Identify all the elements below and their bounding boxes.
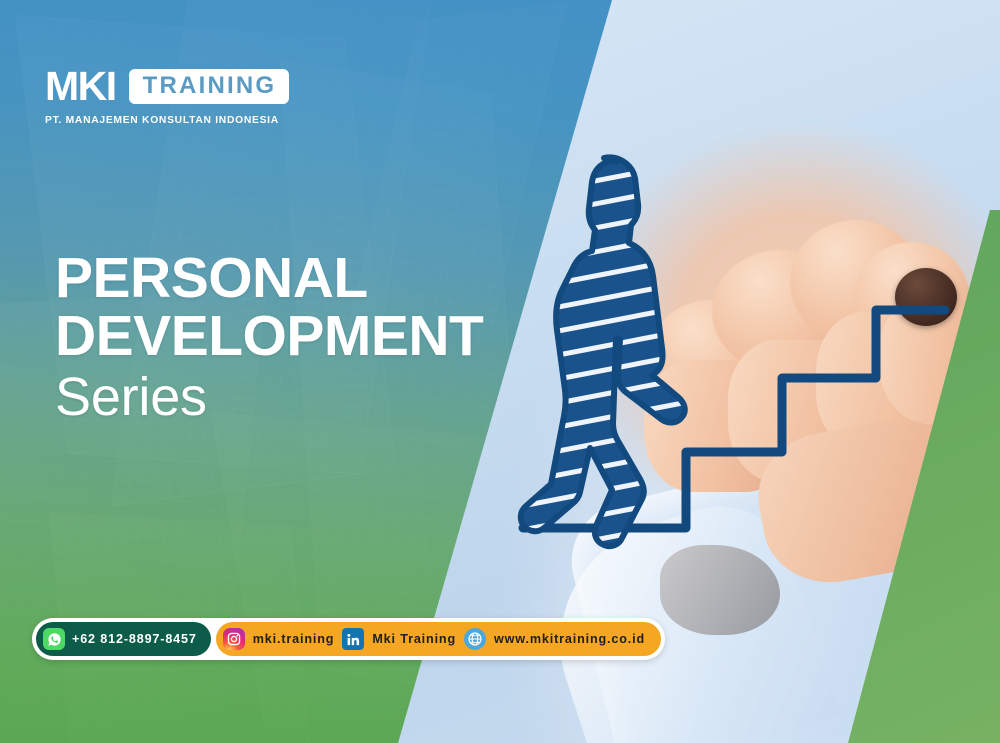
promo-banner: MKI TRAINING PT. MANAJEMEN KONSULTAN IND… — [0, 0, 1000, 743]
whatsapp-number: +62 812-8897-8457 — [72, 632, 197, 646]
website-url[interactable]: www.mkitraining.co.id — [494, 632, 645, 646]
headline-subtitle: Series — [55, 367, 483, 427]
instagram-handle[interactable]: mki.training — [253, 632, 335, 646]
contact-bar: +62 812-8897-8457 mki.training Mki Train… — [32, 618, 665, 660]
social-links-group: mki.training Mki Training www.mkit — [216, 622, 661, 656]
logo-training-badge: TRAINING — [129, 69, 290, 104]
brand-logo: MKI TRAINING PT. MANAJEMEN KONSULTAN IND… — [45, 66, 289, 126]
page-title: PERSONAL DEVELOPMENT Series — [55, 250, 483, 428]
company-tagline: PT. MANAJEMEN KONSULTAN INDONESIA — [45, 115, 279, 126]
whatsapp-icon — [43, 628, 65, 650]
marker-pen-tip — [895, 268, 957, 326]
linkedin-name[interactable]: Mki Training — [372, 632, 456, 646]
instagram-icon[interactable] — [223, 628, 245, 650]
headline-line-2: DEVELOPMENT — [55, 308, 483, 366]
globe-icon[interactable] — [464, 628, 486, 650]
linkedin-icon[interactable] — [342, 628, 364, 650]
headline-line-1: PERSONAL — [55, 250, 483, 308]
whatsapp-contact[interactable]: +62 812-8897-8457 — [36, 622, 211, 656]
logo-mark: MKI — [45, 66, 116, 107]
logo-row: MKI TRAINING — [45, 66, 289, 107]
